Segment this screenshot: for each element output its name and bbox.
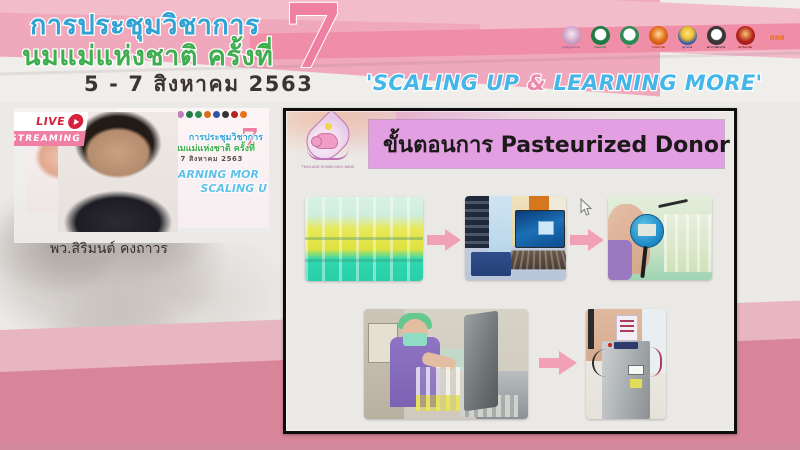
speaker-name: พว.สิริมนต์ คงถาวร	[50, 238, 168, 260]
shelf-stack	[465, 196, 489, 248]
thai-health-promotion-logo: สสส	[762, 29, 792, 47]
photo-pasteurizer-machine	[586, 309, 666, 419]
thai-breastfeeding-foundation-logo: มูลนิธิศูนย์นมแม่	[559, 26, 583, 49]
logo-caption: มูลนิธิศูนย์นมแม่	[562, 46, 580, 49]
logo-caption: มหาวิทยาลัย	[738, 46, 752, 49]
tagline-ampersand: &	[527, 71, 546, 95]
wall-panel	[489, 196, 511, 252]
cradling-hands-icon	[307, 148, 349, 160]
laptop-keyboard	[506, 250, 566, 269]
poster-title-line2: นมแม่แห่งชาติ ครั้งที่	[174, 141, 255, 155]
logo-mark: สสส	[763, 29, 791, 46]
bottle-rack	[664, 214, 712, 272]
logo-mark	[562, 26, 581, 45]
poster-logo-dot	[195, 111, 202, 118]
logo-mark	[678, 26, 697, 45]
screen-dialog-icon	[538, 221, 554, 235]
logo-caption: สภาการพยาบาล	[707, 46, 726, 49]
nursing-council-logo: สภาการพยาบาล	[704, 26, 728, 49]
laptop-screen	[515, 210, 565, 248]
poster-logo-dot	[204, 111, 211, 118]
sleeve	[608, 240, 632, 280]
conference-date: 5 - 7 สิงหาคม 2563	[84, 68, 313, 101]
logo-caption: กรมอนามัย	[594, 46, 607, 49]
machine-control-panel	[614, 342, 638, 349]
logo-caption: กุมารเวช	[682, 46, 692, 49]
logo-mark	[707, 26, 726, 45]
royal-college-logo: ราชวิทยาลัย	[646, 26, 670, 49]
logo-mark	[649, 26, 668, 45]
machine-body	[602, 341, 650, 419]
machine-power-cord	[592, 349, 608, 377]
poster-logo-dot	[222, 111, 229, 118]
poster-logo-dot	[177, 111, 184, 118]
human-milk-bank-logo: THAILAND HUMAN MILK BANK	[300, 115, 356, 175]
mouse-pointer	[580, 198, 593, 222]
poster-logo-strip	[177, 111, 247, 118]
thermometer-display	[638, 224, 656, 236]
slide-title: ขั้นตอนการ Pasteurized Donor Milk	[383, 127, 734, 162]
university-emblem-logo: มหาวิทยาลัย	[733, 26, 757, 49]
pediatric-society-logo: กุมารเวช	[675, 26, 699, 49]
tagline-part1: 'SCALING UP	[366, 71, 527, 95]
photo-milk-bottles-rack	[305, 197, 423, 281]
baby-icon	[314, 133, 338, 149]
droplet-accent-icon	[325, 123, 332, 130]
poster-logo-dot	[186, 111, 193, 118]
poster-logo-dot	[231, 111, 238, 118]
logo-mark	[620, 26, 639, 45]
logo-caption: สธ.	[627, 46, 631, 49]
logo-caption: THAILAND HUMAN MILK BANK	[300, 165, 356, 169]
poster-logo-dot	[213, 111, 220, 118]
poster-logo-dot	[240, 111, 247, 118]
screen: การประชุมวิชาการ นมแม่แห่งชาติ ครั้งที่ …	[0, 0, 800, 450]
edition-number: 7	[283, 0, 344, 80]
desk-items	[471, 252, 511, 276]
machine-indicator-light	[608, 343, 612, 347]
poster-tagline-line2: SCALING U	[200, 182, 267, 195]
rack-shelf	[305, 259, 423, 262]
sponsor-logo-row: มูลนิธิศูนย์นมแม่ กรมอนามัย สธ. ราชวิทยา…	[559, 26, 792, 49]
streaming-label: STREAMING	[14, 134, 82, 144]
conference-header: การประชุมวิชาการ นมแม่แห่งชาติ ครั้งที่ …	[0, 0, 800, 102]
slide-title-banner: ขั้นตอนการ Pasteurized Donor Milk	[369, 120, 724, 168]
background-band-bottom	[0, 442, 800, 450]
tagline-part2: LEARNING MORE'	[546, 71, 763, 95]
wall-sign	[616, 315, 638, 341]
live-badge-bottom: STREAMING	[14, 131, 86, 146]
wall-pipe	[588, 309, 594, 349]
face-mask-icon	[403, 333, 427, 346]
speaker-video-feed[interactable]: 7 การประชุมวิชาการ นมแม่แห่งชาติ ครั้งที…	[14, 108, 269, 243]
ministry-of-public-health-logo: กรมอนามัย	[588, 26, 612, 49]
pasteurizer-lid	[464, 311, 498, 412]
probe-wire	[658, 199, 688, 208]
logo-caption: ราชวิทยาลัย	[651, 46, 665, 49]
photo-handheld-thermometer	[608, 196, 712, 280]
department-of-health-logo: สธ.	[617, 26, 641, 49]
conference-tagline: 'SCALING UP & LEARNING MORE'	[366, 71, 762, 95]
logo-mark	[591, 26, 610, 45]
play-icon	[67, 114, 84, 129]
machine-label	[630, 379, 642, 388]
live-label: LIVE	[35, 115, 66, 128]
presentation-slide-frame[interactable]: THAILAND HUMAN MILK BANK ขั้นตอนการ Past…	[283, 108, 737, 434]
photo-nurse-loading-bottles	[364, 309, 528, 419]
presentation-slide: THAILAND HUMAN MILK BANK ขั้นตอนการ Past…	[286, 111, 734, 431]
live-streaming-badge: LIVE STREAMING	[14, 112, 89, 148]
sign-text-lines	[620, 320, 634, 322]
photo-laptop-data-entry	[465, 196, 566, 280]
machine-display	[628, 365, 644, 375]
live-badge-top: LIVE	[14, 112, 89, 131]
logo-mark	[736, 26, 755, 45]
rack-shelf	[305, 237, 423, 240]
